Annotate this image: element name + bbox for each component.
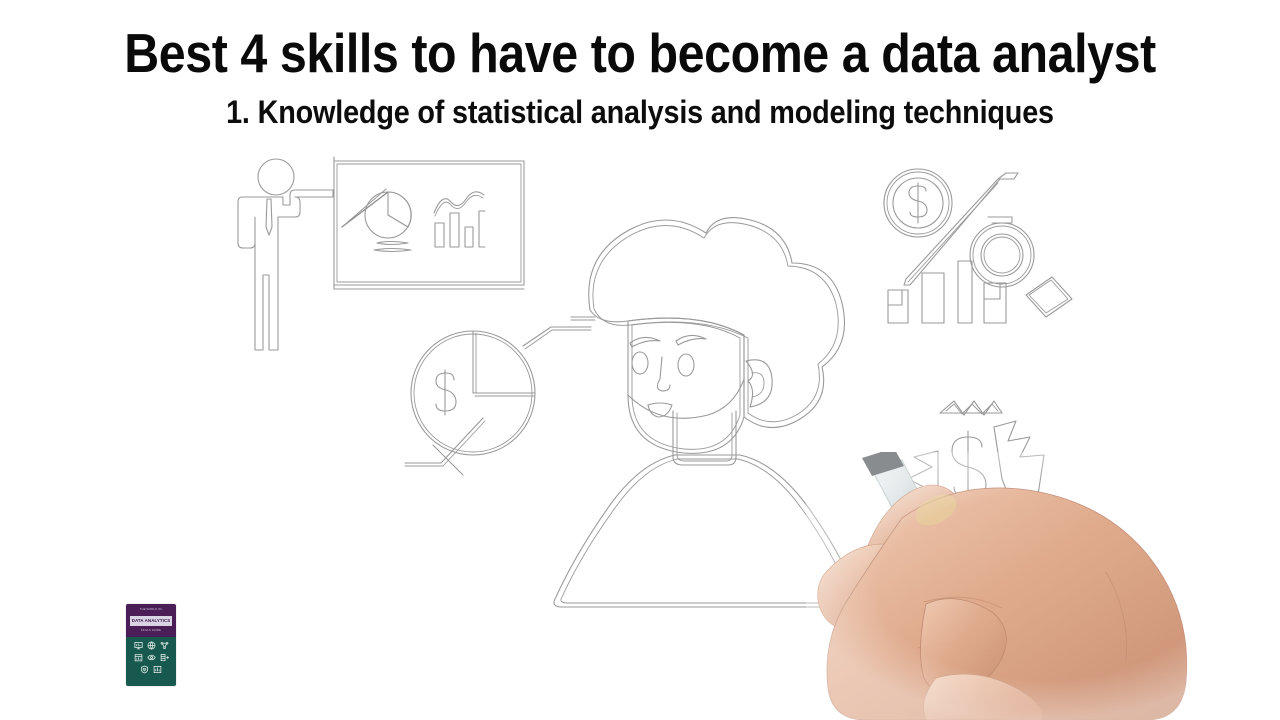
globe-icon [147,641,156,650]
curly-afro-hair [589,218,845,428]
logo-band: DATA ANALYTICS [130,616,172,626]
monitor-chart-icon [134,641,143,650]
text-lines-on-board [374,242,411,252]
left-eye [632,352,648,374]
tilted-rectangle [1026,277,1072,317]
stick-figure-presenter [238,159,333,350]
whiteboard-animation-frame: Best 4 skills to have to become a data a… [0,0,1280,720]
percent-circle-lower [970,223,1034,287]
face [628,318,744,453]
dollar-coin [884,169,952,237]
logo-kicker-bottom: SKILLS GUIDE [126,629,176,632]
left-eyebrow [630,337,660,347]
pie-chart-on-board [365,192,411,238]
calendar-chart-icon [134,653,143,662]
shield-heart-icon [140,665,149,674]
database-arrow-icon [160,653,169,662]
logo-band-text: DATA ANALYTICS [130,618,172,623]
network-nodes-icon [160,641,169,650]
page-title: Best 4 skills to have to become a data a… [77,22,1203,84]
whiteboard-frame [334,157,524,289]
bar-graph-icon [153,665,162,674]
page-subtitle: 1. Knowledge of statistical analysis and… [64,92,1216,132]
ear [746,360,772,407]
bar-chart-on-board [435,211,485,247]
right-eyebrow [676,335,706,345]
logo-kicker-top: THE WORLD OF [126,608,176,611]
hand-holding-marker [806,452,1280,720]
logo-top-panel: THE WORLD OF DATA ANALYTICS SKILLS GUIDE [126,604,176,637]
logo-bottom-panel [126,637,176,686]
finance-icon-cluster [880,165,1080,335]
eye-target-icon [147,653,156,662]
percent-slash [904,173,1018,285]
percent-circle-upper [988,217,1012,223]
channel-logo-watermark: THE WORLD OF DATA ANALYTICS SKILLS GUIDE [126,604,176,686]
nose [657,357,670,391]
right-eye [678,354,694,376]
leader-line-lower [405,418,485,475]
pointer-stick-edge [342,189,386,227]
necktie [266,199,272,235]
logo-icon-grid [129,641,173,674]
dollar-sign [436,370,456,415]
